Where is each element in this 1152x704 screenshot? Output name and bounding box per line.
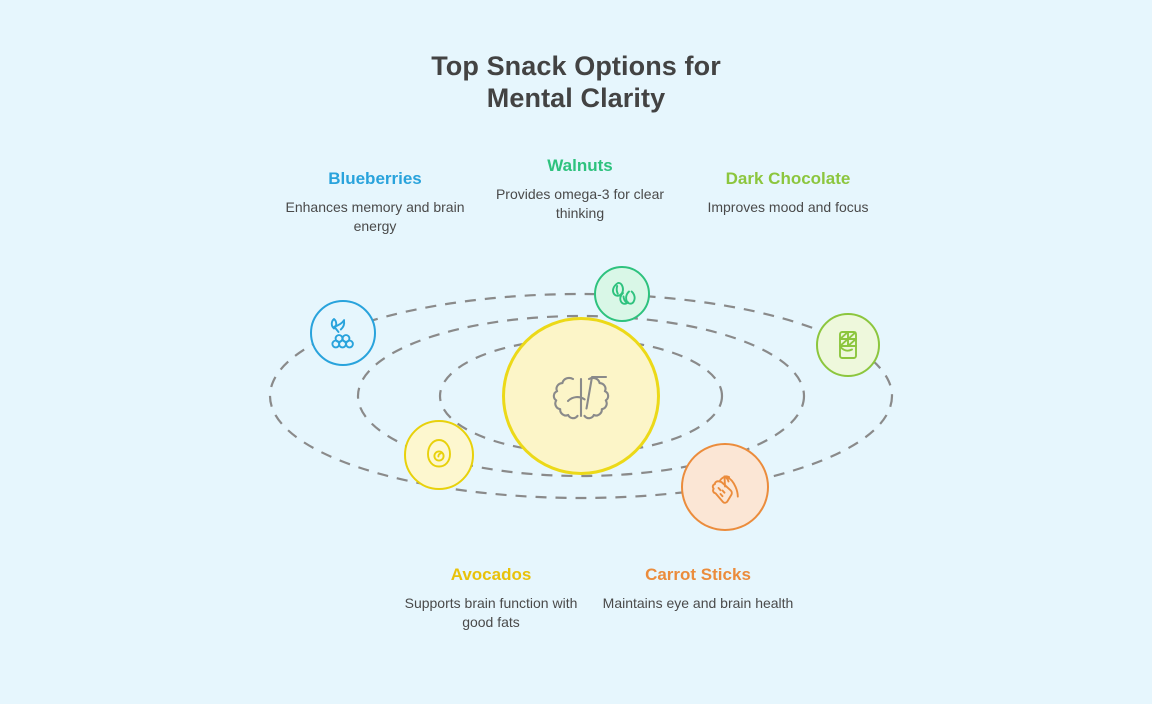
carrot-icon: [697, 459, 753, 515]
walnuts-icon-bubble[interactable]: [594, 266, 650, 322]
carrots-title: Carrot Sticks: [598, 564, 798, 586]
avocados-icon-bubble[interactable]: [404, 420, 474, 490]
brain-icon: [538, 353, 624, 439]
carrots-icon-bubble[interactable]: [681, 443, 769, 531]
chocolate-bar-icon: [830, 327, 866, 363]
avocados-description: Supports brain function with good fats: [388, 594, 594, 632]
chocolate-title: Dark Chocolate: [690, 168, 886, 190]
walnuts-description: Provides omega-3 for clear thinking: [480, 185, 680, 223]
walnuts-text-block: Walnuts Provides omega-3 for clear think…: [480, 155, 680, 223]
avocados-text-block: Avocados Supports brain function with go…: [388, 564, 594, 632]
chocolate-icon-bubble[interactable]: [816, 313, 880, 377]
blueberries-icon-bubble[interactable]: [310, 300, 376, 366]
blueberries-description: Enhances memory and brain energy: [268, 198, 482, 236]
walnuts-title: Walnuts: [480, 155, 680, 177]
walnut-halves-icon: [605, 277, 639, 311]
berry-cluster-icon: [323, 313, 363, 353]
infographic-canvas: Top Snack Options for Mental Clarity: [0, 0, 1152, 704]
chocolate-text-block: Dark Chocolate Improves mood and focus: [690, 168, 886, 217]
carrots-description: Maintains eye and brain health: [598, 594, 798, 613]
avocado-half-icon: [417, 433, 461, 477]
center-brain-bubble[interactable]: [502, 317, 660, 475]
blueberries-text-block: Blueberries Enhances memory and brain en…: [268, 168, 482, 236]
carrots-text-block: Carrot Sticks Maintains eye and brain he…: [598, 564, 798, 613]
avocados-title: Avocados: [388, 564, 594, 586]
blueberries-title: Blueberries: [268, 168, 482, 190]
chocolate-description: Improves mood and focus: [690, 198, 886, 217]
